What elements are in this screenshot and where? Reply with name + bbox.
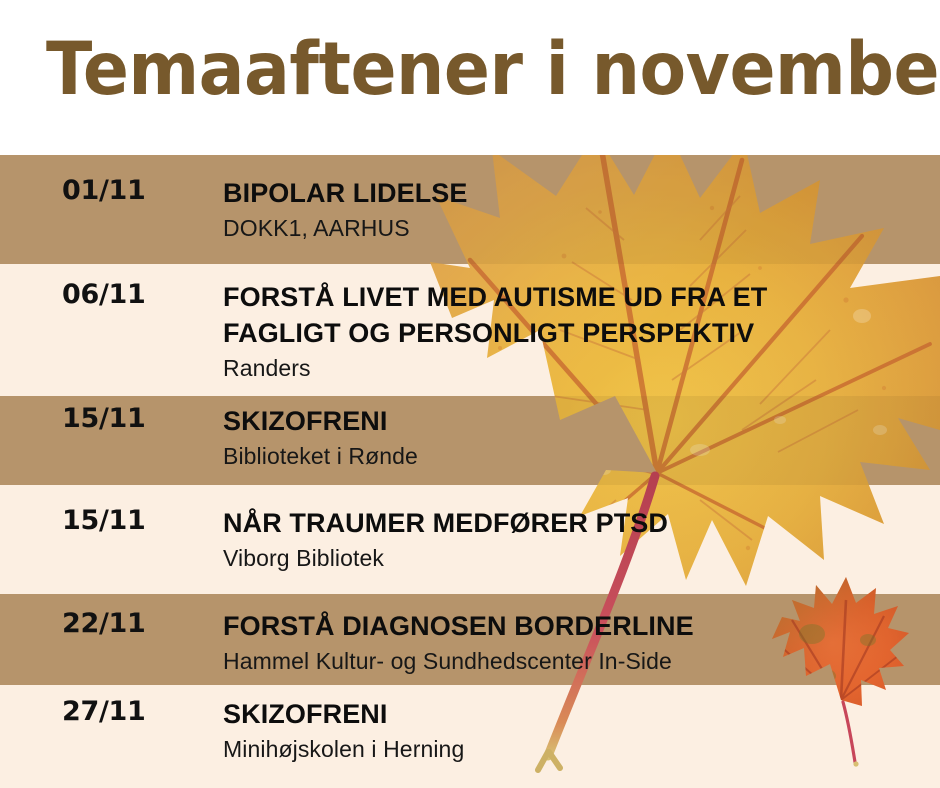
- event-venue: Minihøjskolen i Herning: [223, 734, 923, 765]
- event-title: FORSTÅ DIAGNOSEN BORDERLINE: [223, 608, 923, 644]
- event-title: SKIZOFRENI: [223, 696, 923, 732]
- event-date: 15/11: [62, 403, 212, 435]
- event-body: BIPOLAR LIDELSE DOKK1, AARHUS: [223, 175, 923, 244]
- event-date: 27/11: [62, 696, 212, 728]
- event-venue: Viborg Bibliotek: [223, 543, 923, 574]
- title-area: Temaaftener i november: [0, 0, 940, 155]
- event-venue: Hammel Kultur- og Sundhedscenter In-Side: [223, 646, 923, 677]
- event-body: NÅR TRAUMER MEDFØRER PTSD Viborg Bibliot…: [223, 505, 923, 574]
- event-date: 01/11: [62, 175, 212, 207]
- event-title: FORSTÅ LIVET MED AUTISME UD FRA ET FAGLI…: [223, 279, 923, 351]
- event-body: SKIZOFRENI Biblioteket i Rønde: [223, 403, 923, 472]
- event-body: FORSTÅ LIVET MED AUTISME UD FRA ET FAGLI…: [223, 279, 923, 384]
- event-body: SKIZOFRENI Minihøjskolen i Herning: [223, 696, 923, 765]
- poster: Temaaftener i november 01/11 BIPOLAR LID…: [0, 0, 940, 788]
- event-venue: Biblioteket i Rønde: [223, 441, 923, 472]
- event-title: BIPOLAR LIDELSE: [223, 175, 923, 211]
- page-title: Temaaftener i november: [46, 22, 940, 117]
- event-venue: Randers: [223, 353, 923, 384]
- event-date: 15/11: [62, 505, 212, 537]
- event-title: NÅR TRAUMER MEDFØRER PTSD: [223, 505, 923, 541]
- event-date: 22/11: [62, 608, 212, 640]
- event-date: 06/11: [62, 279, 212, 311]
- event-body: FORSTÅ DIAGNOSEN BORDERLINE Hammel Kultu…: [223, 608, 923, 677]
- event-venue: DOKK1, AARHUS: [223, 213, 923, 244]
- event-title: SKIZOFRENI: [223, 403, 923, 439]
